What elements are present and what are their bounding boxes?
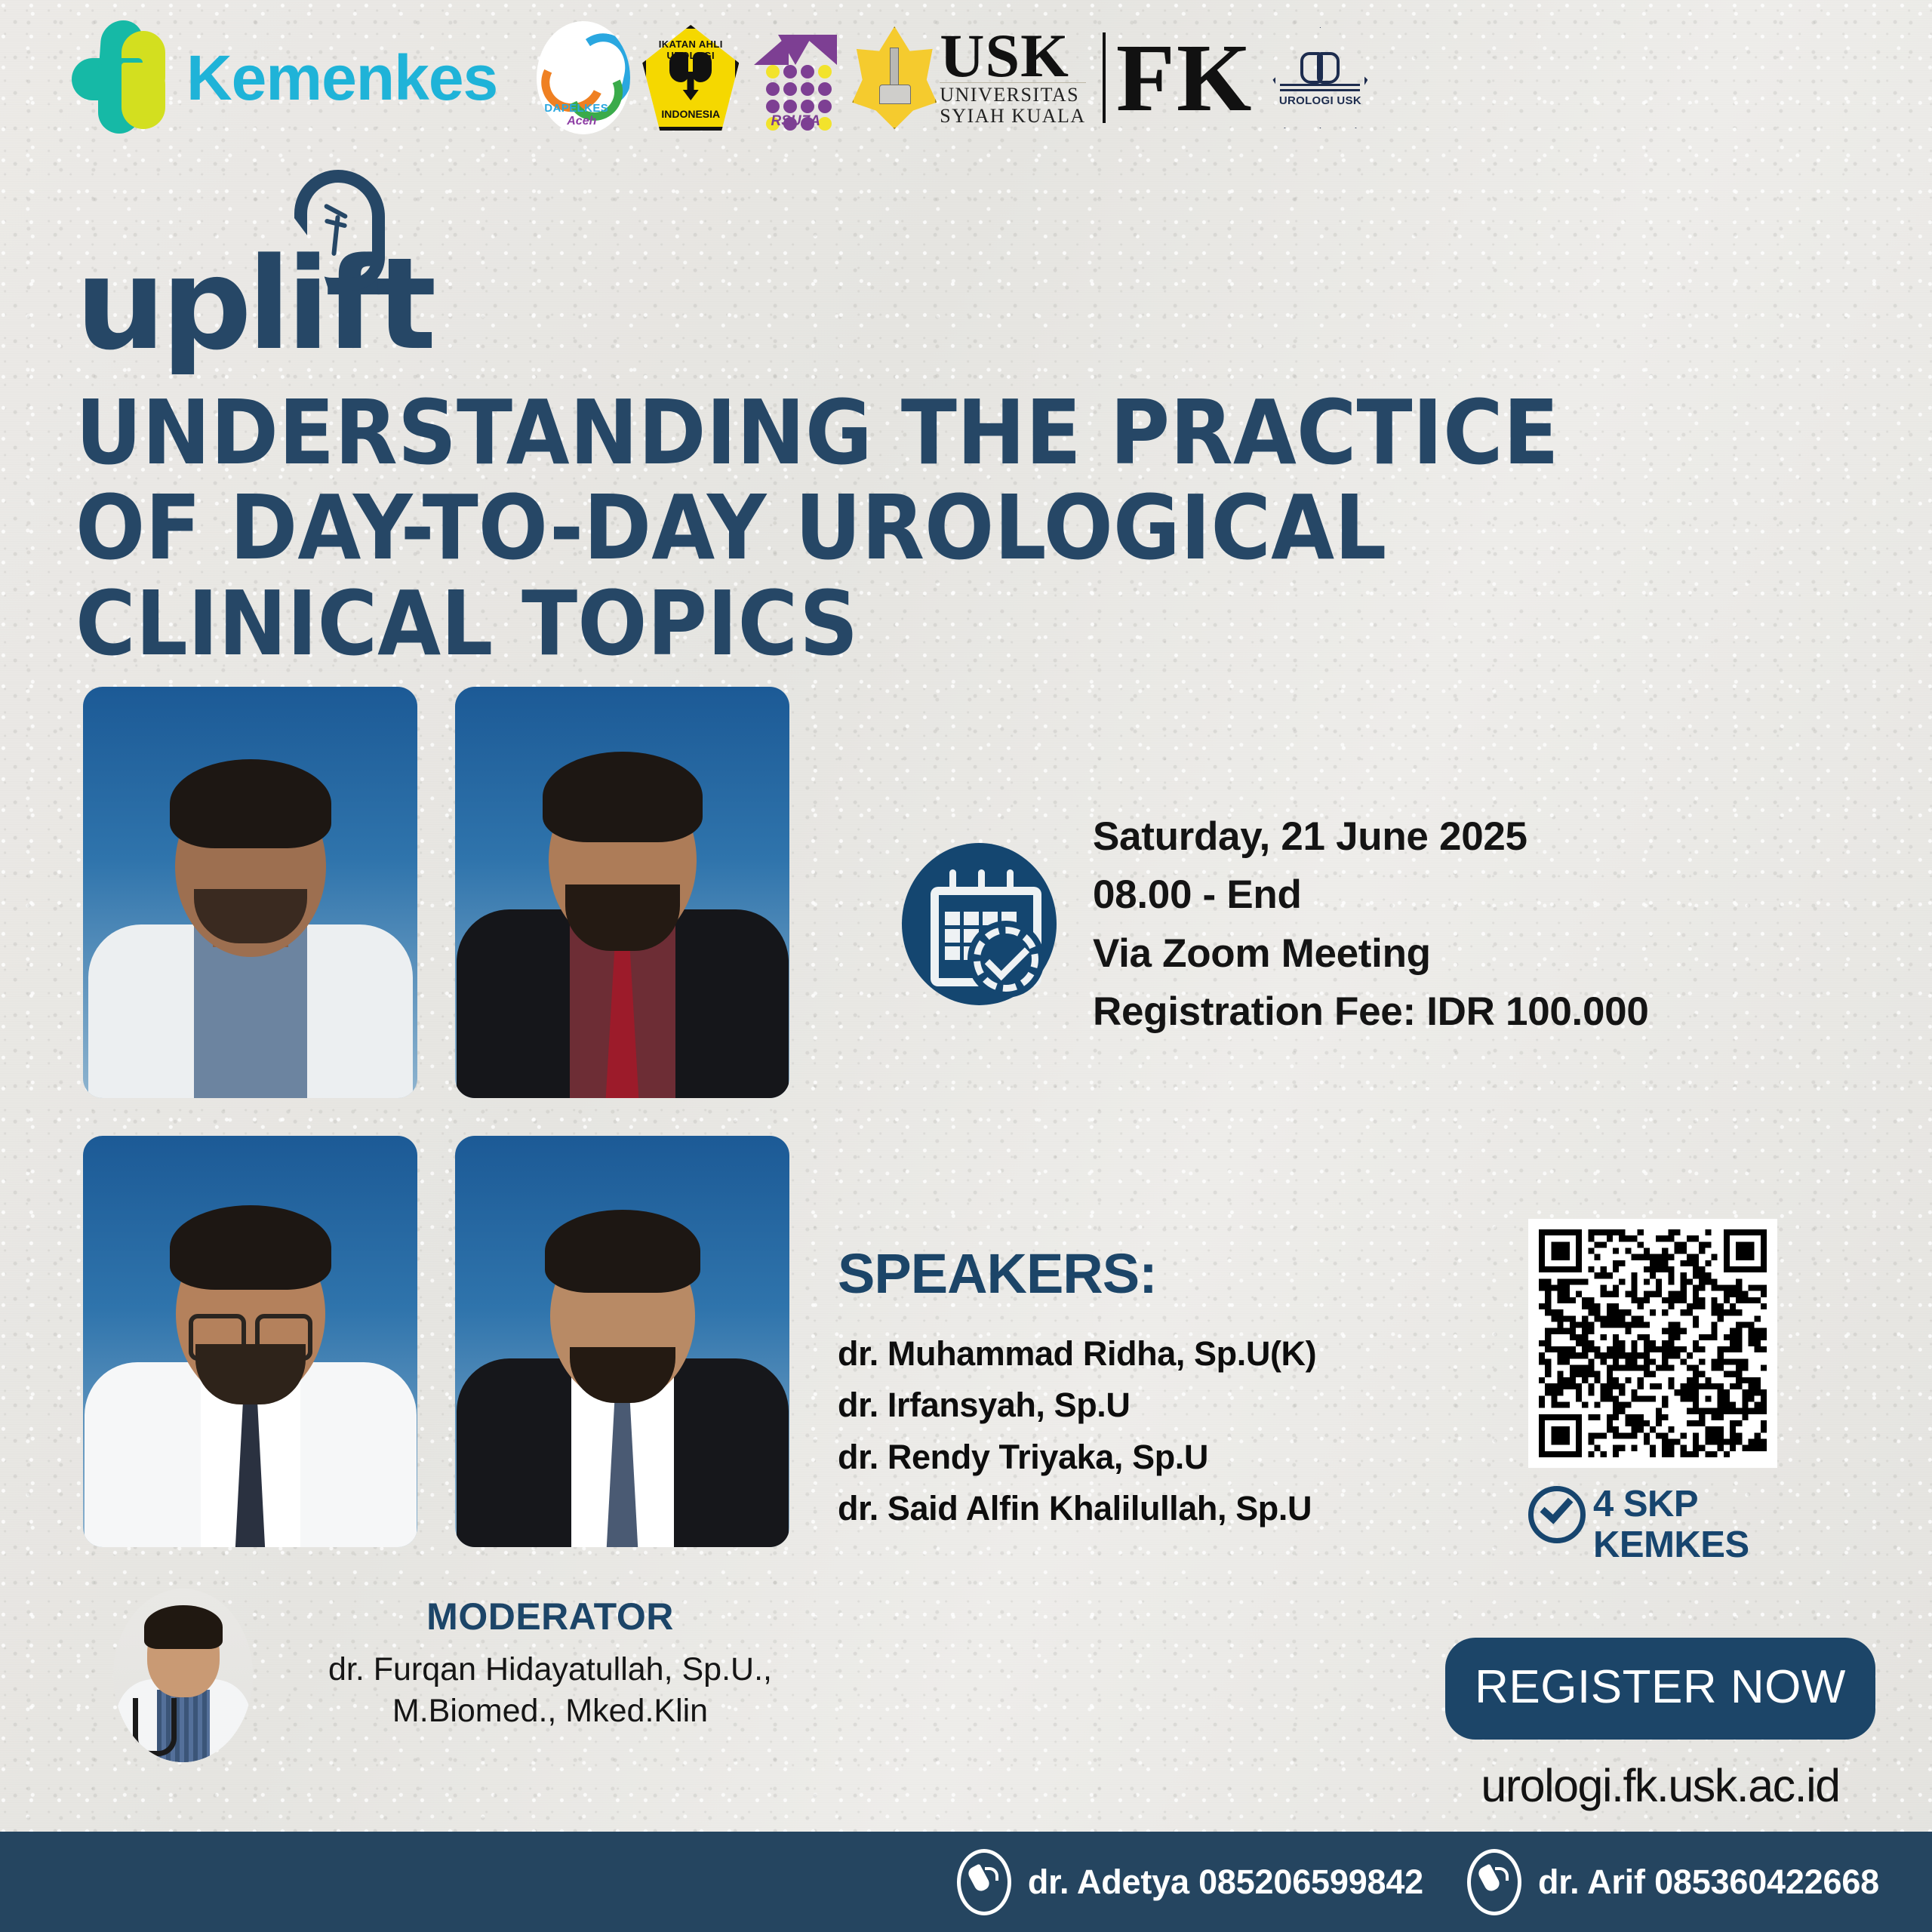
fk-wordmark: FK <box>1116 38 1254 118</box>
speakers-heading: SPEAKERS: <box>838 1241 1316 1306</box>
uplift-brand-logo: uplift <box>75 253 432 357</box>
urologi-label: UROLOGI USK <box>1272 94 1367 107</box>
stethoscope-icon <box>133 1698 177 1756</box>
calendar-clock-icon <box>902 843 1057 1005</box>
rsuza-label: RSUZA <box>751 113 840 130</box>
page-title: UNDERSTANDING THE PRACTICE OF DAY-TO-DAY… <box>75 385 1617 671</box>
skp-issuer: KEMKES <box>1593 1525 1749 1566</box>
contact-1[interactable]: dr. Adetya 085206599842 <box>957 1849 1423 1915</box>
iaui-bottom-label: INDONESIA <box>642 108 739 120</box>
dapelkes-label: DAPELKES <box>544 102 608 115</box>
usk-emblem-icon <box>852 26 937 129</box>
usk-fk-divider <box>1103 32 1106 123</box>
event-time: 08.00 - End <box>1093 866 1649 924</box>
dapelkes-aceh-logo: DAPELKES Aceh <box>537 25 630 131</box>
check-circle-icon <box>1528 1486 1586 1543</box>
moderator-name-line1: dr. Furqan Hidayatullah, Sp.U., <box>271 1649 829 1690</box>
usk-wordmark: USK <box>940 29 1085 83</box>
kemenkes-mark-icon <box>72 20 170 135</box>
speaker-photo-1 <box>83 687 417 1098</box>
moderator-label: MODERATOR <box>271 1595 829 1638</box>
moderator-name-line2: M.Biomed., Mked.Klin <box>271 1690 829 1732</box>
skp-credit-badge: 4 SKP KEMKES <box>1528 1484 1777 1566</box>
speaker-photo-grid <box>83 687 789 1547</box>
usk-sub-line1: UNIVERSITAS <box>940 85 1085 106</box>
urologi-lines-icon <box>1280 84 1360 94</box>
phone-icon <box>1467 1849 1521 1915</box>
moderator-section: MODERATOR dr. Furqan Hidayatullah, Sp.U.… <box>113 1589 829 1762</box>
speaker-name-3: dr. Rendy Triyaka, Sp.U <box>838 1432 1316 1483</box>
registration-qr-code[interactable] <box>1528 1219 1777 1468</box>
urologi-usk-logo: UROLOGI USK <box>1256 25 1367 131</box>
footer-contact-bar: dr. Adetya 085206599842 dr. Arif 0853604… <box>0 1832 1932 1932</box>
urologi-kidney-icon <box>1300 52 1340 82</box>
speakers-section: SPEAKERS: dr. Muhammad Ridha, Sp.U(K) dr… <box>838 1241 1316 1535</box>
usk-sub-line2: SYIAH KUALA <box>940 106 1085 127</box>
speaker-name-2: dr. Irfansyah, Sp.U <box>838 1380 1316 1431</box>
event-platform: Via Zoom Meeting <box>1093 924 1649 983</box>
kidney-icon <box>669 52 712 96</box>
title-line-2: OF DAY-TO-DAY UROLOGICAL <box>75 480 1617 575</box>
rsuza-logo: RSUZA <box>751 25 840 131</box>
speaker-name-1: dr. Muhammad Ridha, Sp.U(K) <box>838 1328 1316 1380</box>
speaker-name-4: dr. Said Alfin Khalilullah, Sp.U <box>838 1483 1316 1534</box>
iaui-logo: IKATAN AHLI UROLOGI INDONESIA <box>642 25 739 131</box>
speaker-photo-4 <box>455 1136 789 1547</box>
speaker-photo-2 <box>455 687 789 1098</box>
contact-2[interactable]: dr. Arif 085360422668 <box>1467 1849 1879 1915</box>
registration-url[interactable]: urologi.fk.usk.ac.id <box>1445 1759 1875 1812</box>
rsuza-triangle-right-icon <box>802 35 837 65</box>
skp-value: 4 SKP <box>1593 1484 1749 1525</box>
event-date: Saturday, 21 June 2025 <box>1093 808 1649 866</box>
moderator-avatar <box>113 1589 253 1762</box>
dapelkes-sublabel: Aceh <box>567 115 596 128</box>
usk-fk-logo: USK UNIVERSITAS SYIAH KUALA FK <box>852 25 1253 131</box>
partner-logo-row: Kemenkes DAPELKES Aceh IKATAN AHLI UROLO… <box>72 21 1380 134</box>
kemenkes-wordmark: Kemenkes <box>186 46 497 109</box>
event-details: Saturday, 21 June 2025 08.00 - End Via Z… <box>902 808 1649 1041</box>
registration-section: REGISTER NOW urologi.fk.usk.ac.id <box>1445 1638 1875 1812</box>
title-line-1: UNDERSTANDING THE PRACTICE <box>75 385 1617 480</box>
register-now-button[interactable]: REGISTER NOW <box>1445 1638 1875 1740</box>
qr-section: 4 SKP KEMKES <box>1528 1219 1777 1566</box>
contact-1-text: dr. Adetya 085206599842 <box>1028 1863 1423 1902</box>
phone-icon <box>957 1849 1011 1915</box>
title-line-3: CLINICAL TOPICS <box>75 576 1617 671</box>
kemenkes-logo: Kemenkes <box>72 20 497 135</box>
contact-2-text: dr. Arif 085360422668 <box>1538 1863 1879 1902</box>
speaker-photo-3 <box>83 1136 417 1547</box>
event-fee: Registration Fee: IDR 100.000 <box>1093 983 1649 1041</box>
uplift-kidney-icon <box>294 170 385 291</box>
